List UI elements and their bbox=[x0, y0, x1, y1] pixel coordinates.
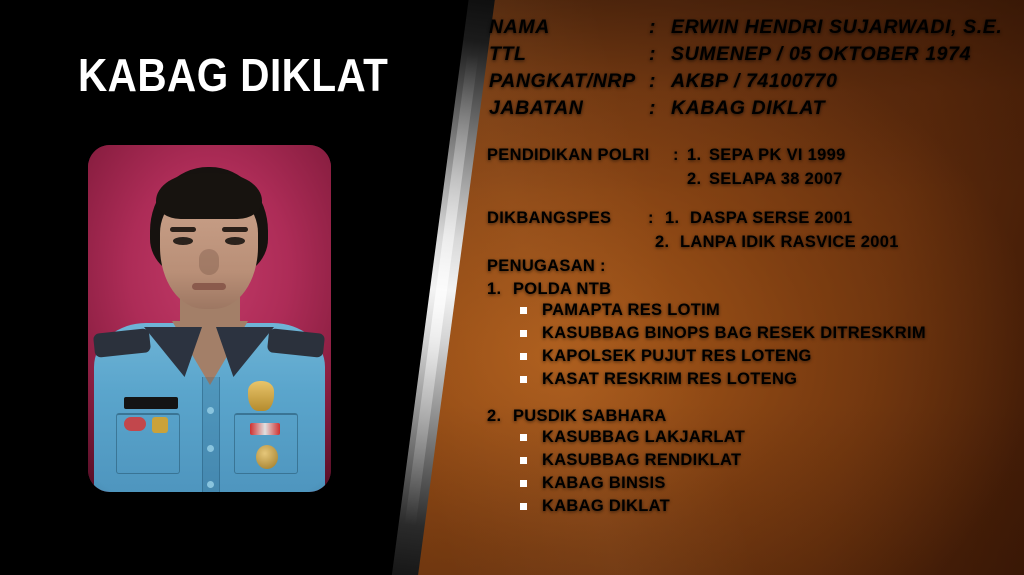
education-colon: : bbox=[673, 146, 679, 165]
identity-colon-ttl: : bbox=[649, 43, 671, 66]
assignment-group-1-name: POLDA NTB bbox=[513, 280, 611, 299]
identity-colon-pangkat: : bbox=[649, 70, 671, 93]
education-item-2-num: 2. bbox=[687, 170, 701, 189]
identity-row-jabatan: JABATAN : KABAG DIKLAT bbox=[489, 97, 825, 120]
assignment-group-1-item-2-text: KASUBBAG BINOPS BAG RESEK DITRESKRIM bbox=[542, 324, 926, 343]
education-item-2-text: SELAPA 38 2007 bbox=[709, 170, 843, 189]
identity-label-ttl: TTL bbox=[489, 43, 649, 66]
assignment-group-1-item-4-text: KASAT RESKRIM RES LOTENG bbox=[542, 370, 797, 389]
assignment-group-1-item-2: KASUBBAG BINOPS BAG RESEK DITRESKRIM bbox=[520, 324, 926, 343]
specialization-item-2-num: 2. bbox=[655, 233, 669, 252]
assignments-label: PENUGASAN bbox=[487, 257, 595, 276]
assignment-group-1-num: 1. bbox=[487, 280, 501, 299]
square-bullet-icon bbox=[520, 307, 527, 314]
square-bullet-icon bbox=[520, 457, 527, 464]
assignment-group-1-item-3-text: KAPOLSEK PUJUT RES LOTENG bbox=[542, 347, 812, 366]
assignment-group-1-item-3: KAPOLSEK PUJUT RES LOTENG bbox=[520, 347, 812, 366]
identity-label-nama: NAMA bbox=[489, 16, 649, 39]
specialization-colon: : bbox=[648, 209, 654, 228]
identity-value-jabatan: KABAG DIKLAT bbox=[671, 97, 825, 120]
identity-value-nama: ERWIN HENDRI SUJARWADI, S.E. bbox=[671, 16, 1002, 39]
square-bullet-icon bbox=[520, 376, 527, 383]
assignment-group-2-item-3: KABAG BINSIS bbox=[520, 474, 666, 493]
identity-colon-nama: : bbox=[649, 16, 671, 39]
assignment-group-2-item-2: KASUBBAG RENDIKLAT bbox=[520, 451, 741, 470]
education-item-1-text: SEPA PK VI 1999 bbox=[709, 146, 846, 165]
assignment-group-2-item-1: KASUBBAG LAKJARLAT bbox=[520, 428, 745, 447]
assignment-group-1-item-1: PAMAPTA RES LOTIM bbox=[520, 301, 720, 320]
page-title: KABAG DIKLAT bbox=[78, 48, 388, 102]
identity-colon-jabatan: : bbox=[649, 97, 671, 120]
slide-root: KABAG DIKLAT NAMA : E bbox=[0, 0, 1024, 575]
specialization-item-1-num: 1. bbox=[665, 209, 679, 228]
assignment-group-2-item-1-text: KASUBBAG LAKJARLAT bbox=[542, 428, 745, 447]
identity-row-nama: NAMA : ERWIN HENDRI SUJARWADI, S.E. bbox=[489, 16, 1002, 39]
square-bullet-icon bbox=[520, 353, 527, 360]
specialization-item-2-text: LANPA IDIK RASVICE 2001 bbox=[680, 233, 899, 252]
specialization-item-1-text: DASPA SERSE 2001 bbox=[690, 209, 853, 228]
assignment-group-2-num: 2. bbox=[487, 407, 501, 426]
square-bullet-icon bbox=[520, 434, 527, 441]
officer-portrait-photo bbox=[88, 145, 331, 492]
assignment-group-1-item-1-text: PAMAPTA RES LOTIM bbox=[542, 301, 720, 320]
identity-value-ttl: SUMENEP / 05 OKTOBER 1974 bbox=[671, 43, 971, 66]
identity-value-pangkat: AKBP / 74100770 bbox=[671, 70, 838, 93]
portrait-vignette bbox=[88, 145, 331, 492]
assignment-group-2-item-2-text: KASUBBAG RENDIKLAT bbox=[542, 451, 741, 470]
specialization-label: DIKBANGSPES bbox=[487, 209, 611, 228]
square-bullet-icon bbox=[520, 480, 527, 487]
identity-row-ttl: TTL : SUMENEP / 05 OKTOBER 1974 bbox=[489, 43, 971, 66]
assignment-group-2-item-4-text: KABAG DIKLAT bbox=[542, 497, 670, 516]
assignment-group-2-item-3-text: KABAG BINSIS bbox=[542, 474, 666, 493]
assignment-group-1-item-4: KASAT RESKRIM RES LOTENG bbox=[520, 370, 797, 389]
education-item-1-num: 1. bbox=[687, 146, 701, 165]
assignments-colon: : bbox=[600, 257, 606, 276]
education-label: PENDIDIKAN POLRI bbox=[487, 146, 649, 165]
identity-label-jabatan: JABATAN bbox=[489, 97, 649, 120]
identity-label-pangkat: PANGKAT/NRP bbox=[489, 70, 649, 93]
square-bullet-icon bbox=[520, 330, 527, 337]
identity-row-pangkat: PANGKAT/NRP : AKBP / 74100770 bbox=[489, 70, 838, 93]
square-bullet-icon bbox=[520, 503, 527, 510]
assignment-group-2-name: PUSDIK SABHARA bbox=[513, 407, 667, 426]
assignment-group-2-item-4: KABAG DIKLAT bbox=[520, 497, 670, 516]
